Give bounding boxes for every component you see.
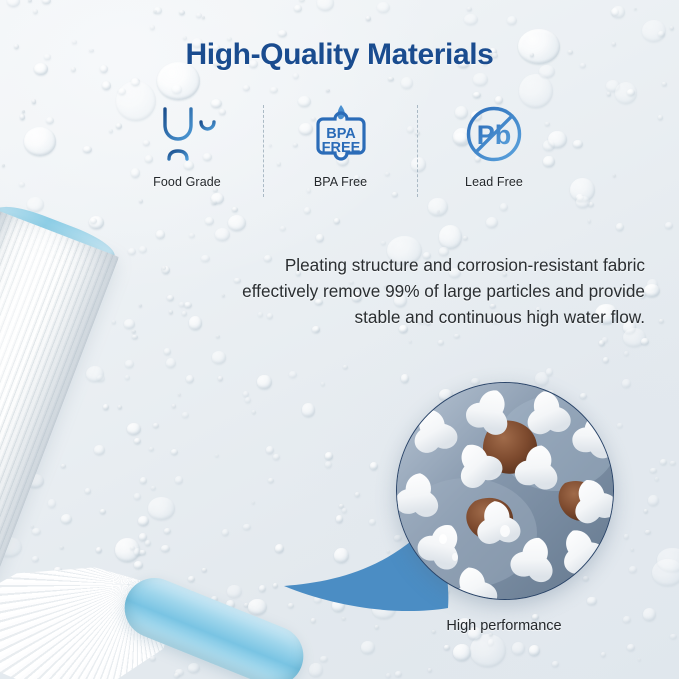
water-droplet xyxy=(546,368,553,375)
water-droplet xyxy=(464,14,478,25)
water-droplet xyxy=(42,0,50,4)
water-droplet xyxy=(22,110,25,113)
water-droplet xyxy=(623,328,646,347)
free-text: FREE xyxy=(321,140,360,156)
water-droplet xyxy=(670,634,677,639)
water-droplet xyxy=(409,340,412,342)
water-droplet xyxy=(627,89,635,96)
water-droplet xyxy=(576,194,585,201)
badge-bpa-free: BPA FREE BPA Free xyxy=(282,103,400,189)
badge-divider-2 xyxy=(417,105,418,197)
water-droplet xyxy=(366,16,372,21)
water-droplet xyxy=(603,357,610,364)
water-droplet xyxy=(644,284,660,297)
water-droplet xyxy=(202,16,205,19)
water-droplet xyxy=(243,85,250,91)
water-droplet xyxy=(588,219,592,223)
water-droplet xyxy=(660,459,667,465)
badge-divider-1 xyxy=(263,105,264,197)
water-droplet xyxy=(657,548,679,573)
water-droplet xyxy=(32,99,36,103)
water-droplet xyxy=(612,6,624,18)
water-droplet xyxy=(428,668,432,672)
water-droplet xyxy=(606,80,620,92)
water-droplet xyxy=(629,566,637,572)
water-droplet xyxy=(386,673,391,678)
water-droplet xyxy=(613,174,616,177)
water-droplet xyxy=(131,78,140,86)
magnifier-caption: High performance xyxy=(396,618,612,634)
water-droplet xyxy=(179,10,185,15)
water-droplet xyxy=(670,461,675,466)
water-droplet xyxy=(299,0,305,2)
water-droplet xyxy=(439,225,463,249)
water-droplet xyxy=(615,82,637,104)
water-droplet xyxy=(486,217,498,229)
water-droplet xyxy=(19,182,24,187)
water-droplet xyxy=(624,534,629,538)
water-droplet xyxy=(153,10,157,14)
badge-lead-free: Pb Lead Free xyxy=(435,103,553,189)
water-droplet xyxy=(624,351,629,356)
bpa-free-shield-icon: BPA FREE xyxy=(310,103,372,165)
water-droplet xyxy=(401,374,409,382)
no-lead-pb-icon: Pb xyxy=(464,103,524,165)
water-droplet xyxy=(453,644,471,661)
water-droplet xyxy=(552,661,558,667)
water-droplet xyxy=(473,73,488,86)
water-droplet xyxy=(570,178,595,202)
water-droplet xyxy=(196,13,202,19)
water-droplet xyxy=(644,509,648,513)
badge-label: Lead Free xyxy=(465,175,523,189)
water-droplet xyxy=(470,634,506,668)
water-droplet xyxy=(467,7,472,11)
badge-food-grade: Food Grade xyxy=(128,103,246,189)
water-droplet xyxy=(109,129,113,133)
water-droplet xyxy=(616,223,624,231)
water-droplet xyxy=(647,279,658,290)
water-droplet xyxy=(116,123,122,129)
water-droplet xyxy=(20,114,25,119)
water-droplet xyxy=(601,652,606,657)
water-droplet xyxy=(599,340,605,346)
water-droplet xyxy=(576,196,589,208)
water-droplet xyxy=(602,337,609,343)
water-droplet xyxy=(377,2,390,13)
water-droplet xyxy=(473,92,480,98)
water-droplet xyxy=(658,31,665,37)
water-droplet xyxy=(631,548,634,551)
water-droplet xyxy=(370,462,378,470)
water-droplet xyxy=(395,671,402,677)
magnifier-circle xyxy=(396,382,614,600)
water-droplet xyxy=(662,82,666,86)
water-droplet xyxy=(24,127,56,155)
water-droplet xyxy=(317,0,334,11)
water-droplet xyxy=(652,559,679,586)
water-droplet xyxy=(650,468,657,473)
water-droplet xyxy=(172,85,183,94)
page-title: High-Quality Materials xyxy=(0,38,679,72)
water-droplet xyxy=(33,9,39,15)
water-droplet xyxy=(150,25,156,30)
water-droplet xyxy=(611,8,619,16)
water-droplet xyxy=(454,334,459,339)
certification-badges: Food Grade BPA FREE BPA Free xyxy=(128,103,553,198)
water-droplet xyxy=(500,203,508,211)
water-droplet xyxy=(529,645,540,656)
water-droplet xyxy=(659,319,664,323)
water-droplet xyxy=(293,73,299,79)
water-droplet xyxy=(444,645,449,650)
water-droplet xyxy=(381,241,386,246)
water-droplet xyxy=(634,8,637,11)
badge-label: BPA Free xyxy=(314,175,367,189)
product-infographic: High-Quality Materials xyxy=(0,0,679,679)
water-droplet xyxy=(28,0,32,2)
water-droplet xyxy=(638,658,641,661)
water-droplet xyxy=(488,639,495,645)
water-droplet xyxy=(627,644,636,652)
water-droplet xyxy=(437,210,440,213)
water-droplet xyxy=(655,477,659,481)
water-droplet xyxy=(463,236,468,240)
water-droplet xyxy=(588,202,595,207)
water-droplet xyxy=(118,88,127,95)
water-droplet xyxy=(294,5,302,13)
water-droplet xyxy=(278,30,287,37)
water-droplet xyxy=(211,200,218,206)
water-droplet xyxy=(428,198,447,217)
water-droplet xyxy=(7,0,20,7)
water-droplet xyxy=(139,199,143,203)
water-droplet xyxy=(573,140,583,148)
water-droplet xyxy=(401,77,414,89)
water-droplet xyxy=(645,530,651,535)
water-droplet xyxy=(2,164,5,167)
water-droplet xyxy=(648,495,659,506)
water-droplet xyxy=(232,207,238,212)
water-droplet xyxy=(512,642,525,655)
water-droplet xyxy=(622,379,631,387)
water-droplet xyxy=(326,89,330,93)
wine-glass-fork-icon xyxy=(157,103,217,165)
water-droplet xyxy=(617,423,623,429)
water-droplet xyxy=(643,608,656,621)
badge-label: Food Grade xyxy=(153,175,221,189)
water-droplet xyxy=(438,340,444,346)
water-droplet xyxy=(658,115,663,119)
water-droplet xyxy=(607,92,610,95)
water-droplet xyxy=(388,77,393,82)
water-droplet xyxy=(361,641,375,654)
water-droplet xyxy=(665,222,673,229)
water-droplet xyxy=(304,207,311,214)
water-droplet xyxy=(270,87,277,93)
water-droplet xyxy=(641,338,650,346)
water-droplet xyxy=(623,616,631,623)
water-droplet xyxy=(102,81,111,90)
water-droplet xyxy=(670,26,674,30)
water-droplet xyxy=(154,7,162,13)
water-droplet xyxy=(83,146,92,153)
fiber-microstructure xyxy=(397,383,613,599)
water-droplet xyxy=(507,16,517,25)
water-droplet xyxy=(46,117,54,124)
